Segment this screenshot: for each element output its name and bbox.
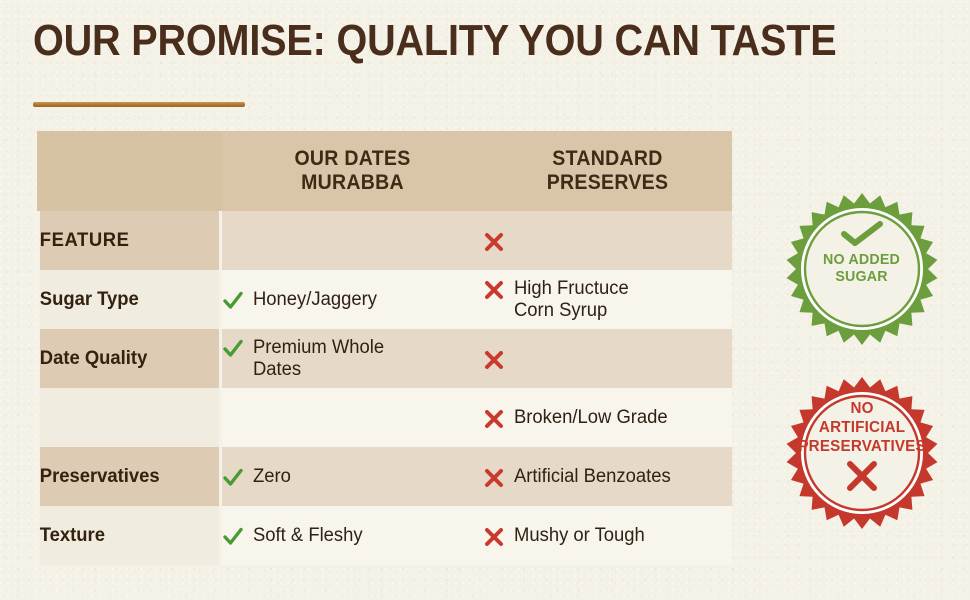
- row-value-our-dates-cell: Premium Whole Dates: [222, 329, 483, 388]
- table-row: FEATURE: [37, 211, 732, 270]
- row-value-standard-cell: Broken/Low Grade: [483, 388, 732, 447]
- cross-icon: [845, 460, 879, 492]
- row-value-our-dates-cell: [222, 388, 483, 447]
- column-header-standard-preserves-label: STANDARD PRESERVES: [492, 147, 724, 195]
- row-value-standard-label: Artificial Benzoates: [514, 466, 671, 488]
- row-value-standard-cell: High Fructuce Corn Syrup: [483, 270, 732, 329]
- table-row: Broken/Low Grade: [37, 388, 732, 447]
- comparison-table: OUR DATES MURABBA STANDARD PRESERVES FEA…: [37, 131, 732, 565]
- column-header-feature: [37, 131, 222, 211]
- row-value-our-dates-cell: [222, 211, 483, 270]
- cross-icon: [483, 231, 505, 253]
- row-feature-label: Sugar Type: [40, 270, 219, 329]
- row-value-our-dates-cell: Honey/Jaggery: [222, 270, 483, 329]
- check-icon: [840, 221, 884, 247]
- column-header-our-dates-murabba: OUR DATES MURABBA: [222, 131, 483, 211]
- table-body: FEATURESugar TypeHoney/JaggeryHigh Fruct…: [37, 211, 732, 565]
- row-value-our-dates: [222, 407, 483, 429]
- table-row: Sugar TypeHoney/JaggeryHigh Fructuce Cor…: [37, 270, 732, 329]
- cross-icon: [483, 408, 505, 430]
- row-value-standard: High Fructuce Corn Syrup: [483, 278, 732, 322]
- row-feature-label: [40, 388, 219, 447]
- check-icon: [222, 467, 244, 489]
- row-value-standard-cell: [483, 329, 732, 388]
- row-value-our-dates-label: Zero: [253, 466, 291, 488]
- check-icon: [222, 526, 244, 548]
- row-value-our-dates: Premium Whole Dates: [222, 337, 483, 381]
- row-value-our-dates: Soft & Fleshy: [222, 525, 483, 547]
- row-value-our-dates: [222, 230, 483, 252]
- cross-icon: [483, 279, 505, 301]
- row-value-standard-label: High Fructuce Corn Syrup: [514, 278, 629, 322]
- table-header: OUR DATES MURABBA STANDARD PRESERVES: [37, 131, 732, 211]
- row-feature-label: Texture: [40, 506, 219, 565]
- cross-icon: [483, 526, 505, 548]
- badge-no-artificial-preservatives: NO ARTIFICIAL PRESERVATIVES: [784, 375, 940, 531]
- title-underline-rule: [33, 102, 245, 107]
- row-value-our-dates-label: Honey/Jaggery: [253, 289, 377, 311]
- badge-no-added-sugar-content: NO ADDED SUGAR: [784, 191, 940, 347]
- row-value-our-dates-cell: Zero: [222, 447, 483, 506]
- row-value-our-dates-label: Soft & Fleshy: [253, 525, 363, 547]
- badge-no-artificial-preservatives-label: NO ARTIFICIAL PRESERVATIVES: [798, 399, 925, 456]
- row-feature-label: Preservatives: [40, 447, 219, 506]
- row-feature-label: FEATURE: [40, 211, 219, 270]
- table-row: Date QualityPremium Whole Dates: [37, 329, 732, 388]
- column-header-standard-preserves: STANDARD PRESERVES: [483, 131, 732, 211]
- cross-icon: [483, 467, 505, 489]
- row-value-standard: Broken/Low Grade: [483, 407, 732, 429]
- row-value-standard-cell: [483, 211, 732, 270]
- table-row: PreservativesZeroArtificial Benzoates: [37, 447, 732, 506]
- column-header-our-dates-murabba-label: OUR DATES MURABBA: [231, 147, 474, 195]
- table-header-row: OUR DATES MURABBA STANDARD PRESERVES: [37, 131, 732, 211]
- row-value-standard-cell: Artificial Benzoates: [483, 447, 732, 506]
- no-mark-placeholder: [222, 231, 244, 253]
- cross-icon: [483, 349, 505, 371]
- row-value-our-dates-label: Premium Whole Dates: [253, 337, 384, 381]
- row-value-standard-label: Broken/Low Grade: [514, 407, 668, 429]
- infographic-stage: OUR PROMISE: QUALITY YOU CAN TASTE OUR D…: [0, 0, 970, 600]
- row-value-standard: [483, 230, 732, 252]
- check-icon: [222, 338, 244, 360]
- row-value-standard-label: Mushy or Tough: [514, 525, 645, 547]
- row-value-standard: Mushy or Tough: [483, 525, 732, 547]
- badge-no-artificial-preservatives-content: NO ARTIFICIAL PRESERVATIVES: [784, 375, 940, 531]
- row-feature-label: Date Quality: [40, 329, 219, 388]
- row-value-standard: [483, 348, 732, 370]
- row-value-standard: Artificial Benzoates: [483, 466, 732, 488]
- badge-no-added-sugar: NO ADDED SUGAR: [784, 191, 940, 347]
- no-mark-placeholder: [222, 408, 244, 430]
- table-row: TextureSoft & FleshyMushy or Tough: [37, 506, 732, 565]
- row-value-our-dates-cell: Soft & Fleshy: [222, 506, 483, 565]
- check-icon: [222, 290, 244, 312]
- page-title: OUR PROMISE: QUALITY YOU CAN TASTE: [33, 16, 837, 66]
- row-value-our-dates: Zero: [222, 466, 483, 488]
- badge-no-added-sugar-label: NO ADDED SUGAR: [823, 251, 900, 285]
- row-value-our-dates: Honey/Jaggery: [222, 289, 483, 311]
- row-value-standard-cell: Mushy or Tough: [483, 506, 732, 565]
